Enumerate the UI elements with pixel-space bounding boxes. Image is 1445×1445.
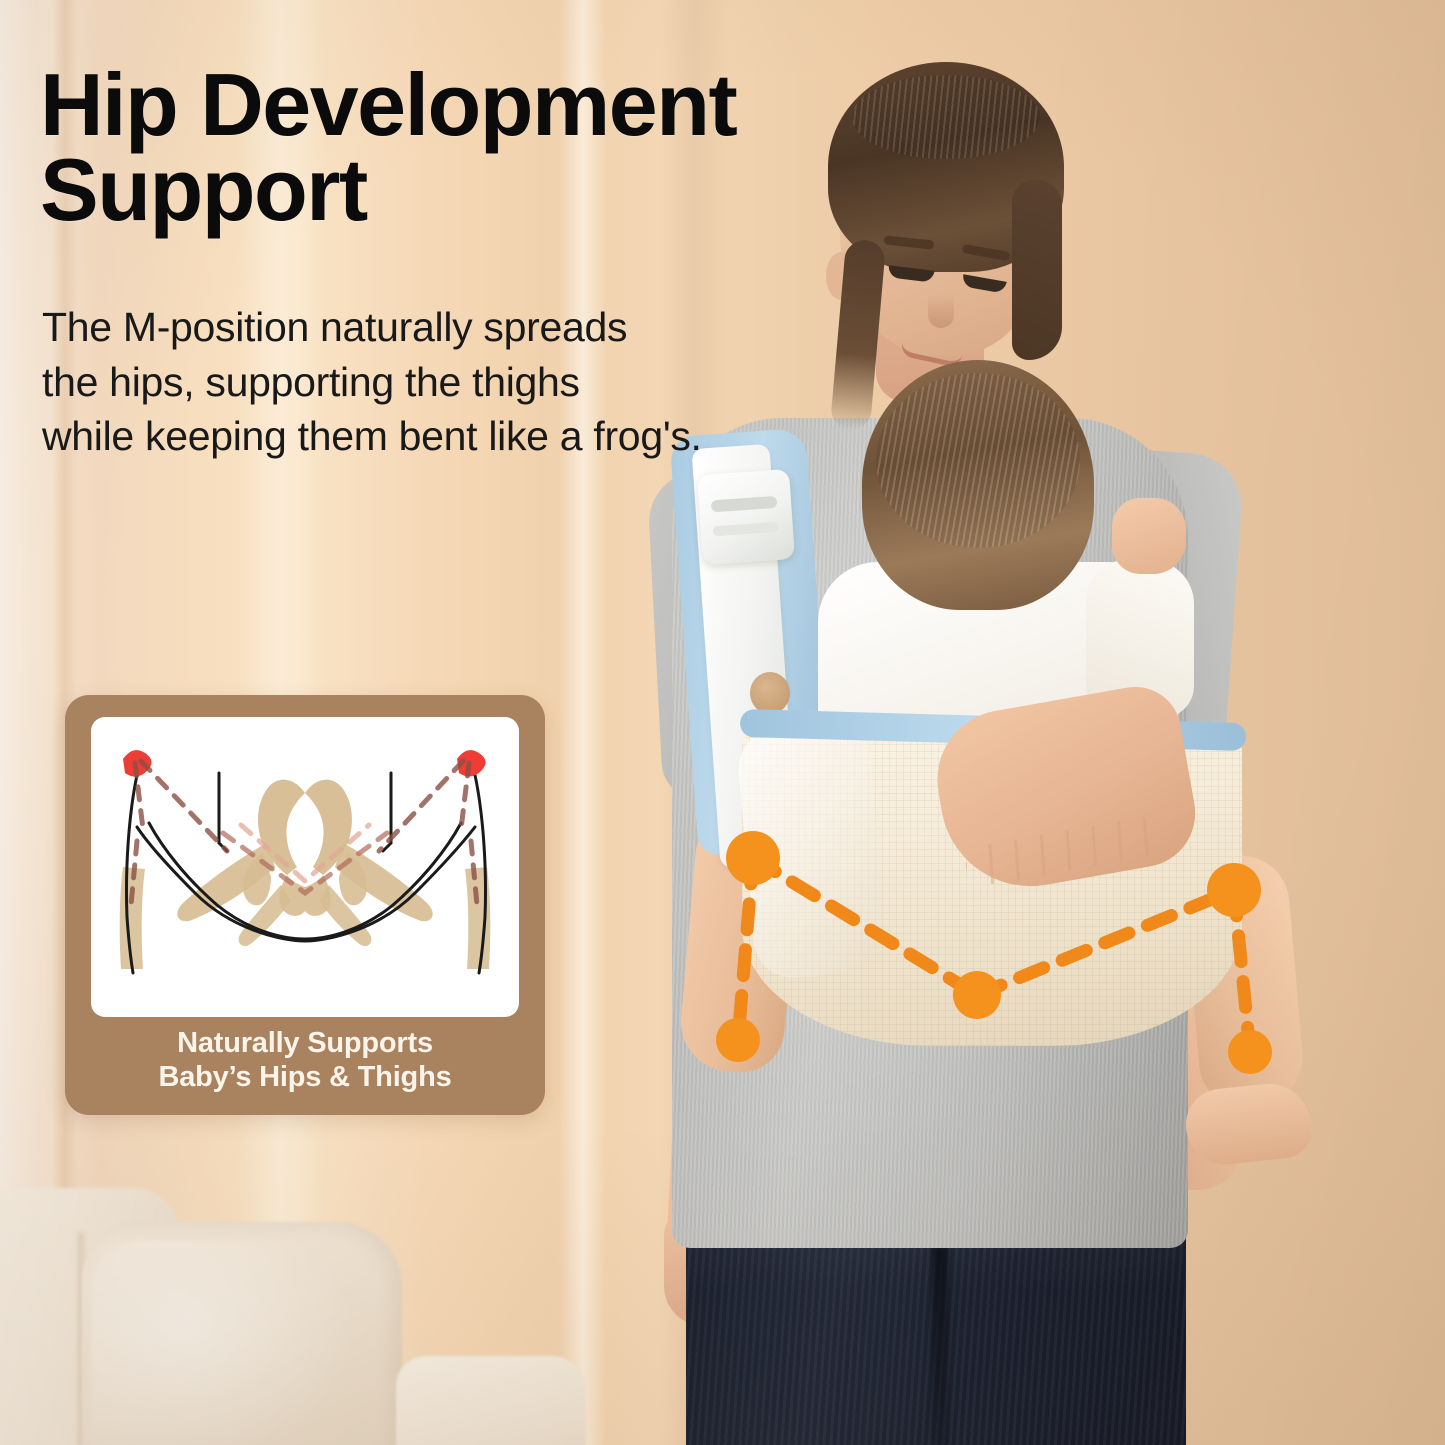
page-title: Hip Development Support — [40, 62, 840, 233]
body-line-1: The M-position naturally spreads — [42, 300, 782, 355]
body-line-3: while keeping them bent like a frog's. — [42, 409, 782, 464]
caption-line-1: Naturally Supports — [65, 1027, 545, 1061]
anatomy-card-caption: Naturally Supports Baby’s Hips & Thighs — [65, 1027, 545, 1095]
product-feature-image: Hip Development Support The M-position n… — [0, 0, 1445, 1445]
anatomy-diagram-card: Naturally Supports Baby’s Hips & Thighs — [65, 695, 545, 1115]
headline-line-1: Hip Development — [40, 62, 840, 147]
pelvis-hip-diagram-icon — [91, 717, 519, 1017]
feature-description: The M-position naturally spreads the hip… — [42, 300, 782, 464]
caption-line-2: Baby’s Hips & Thighs — [65, 1061, 545, 1095]
anatomy-diagram-panel — [91, 717, 519, 1017]
headline-line-2: Support — [40, 147, 840, 232]
body-line-2: the hips, supporting the thighs — [42, 355, 782, 410]
